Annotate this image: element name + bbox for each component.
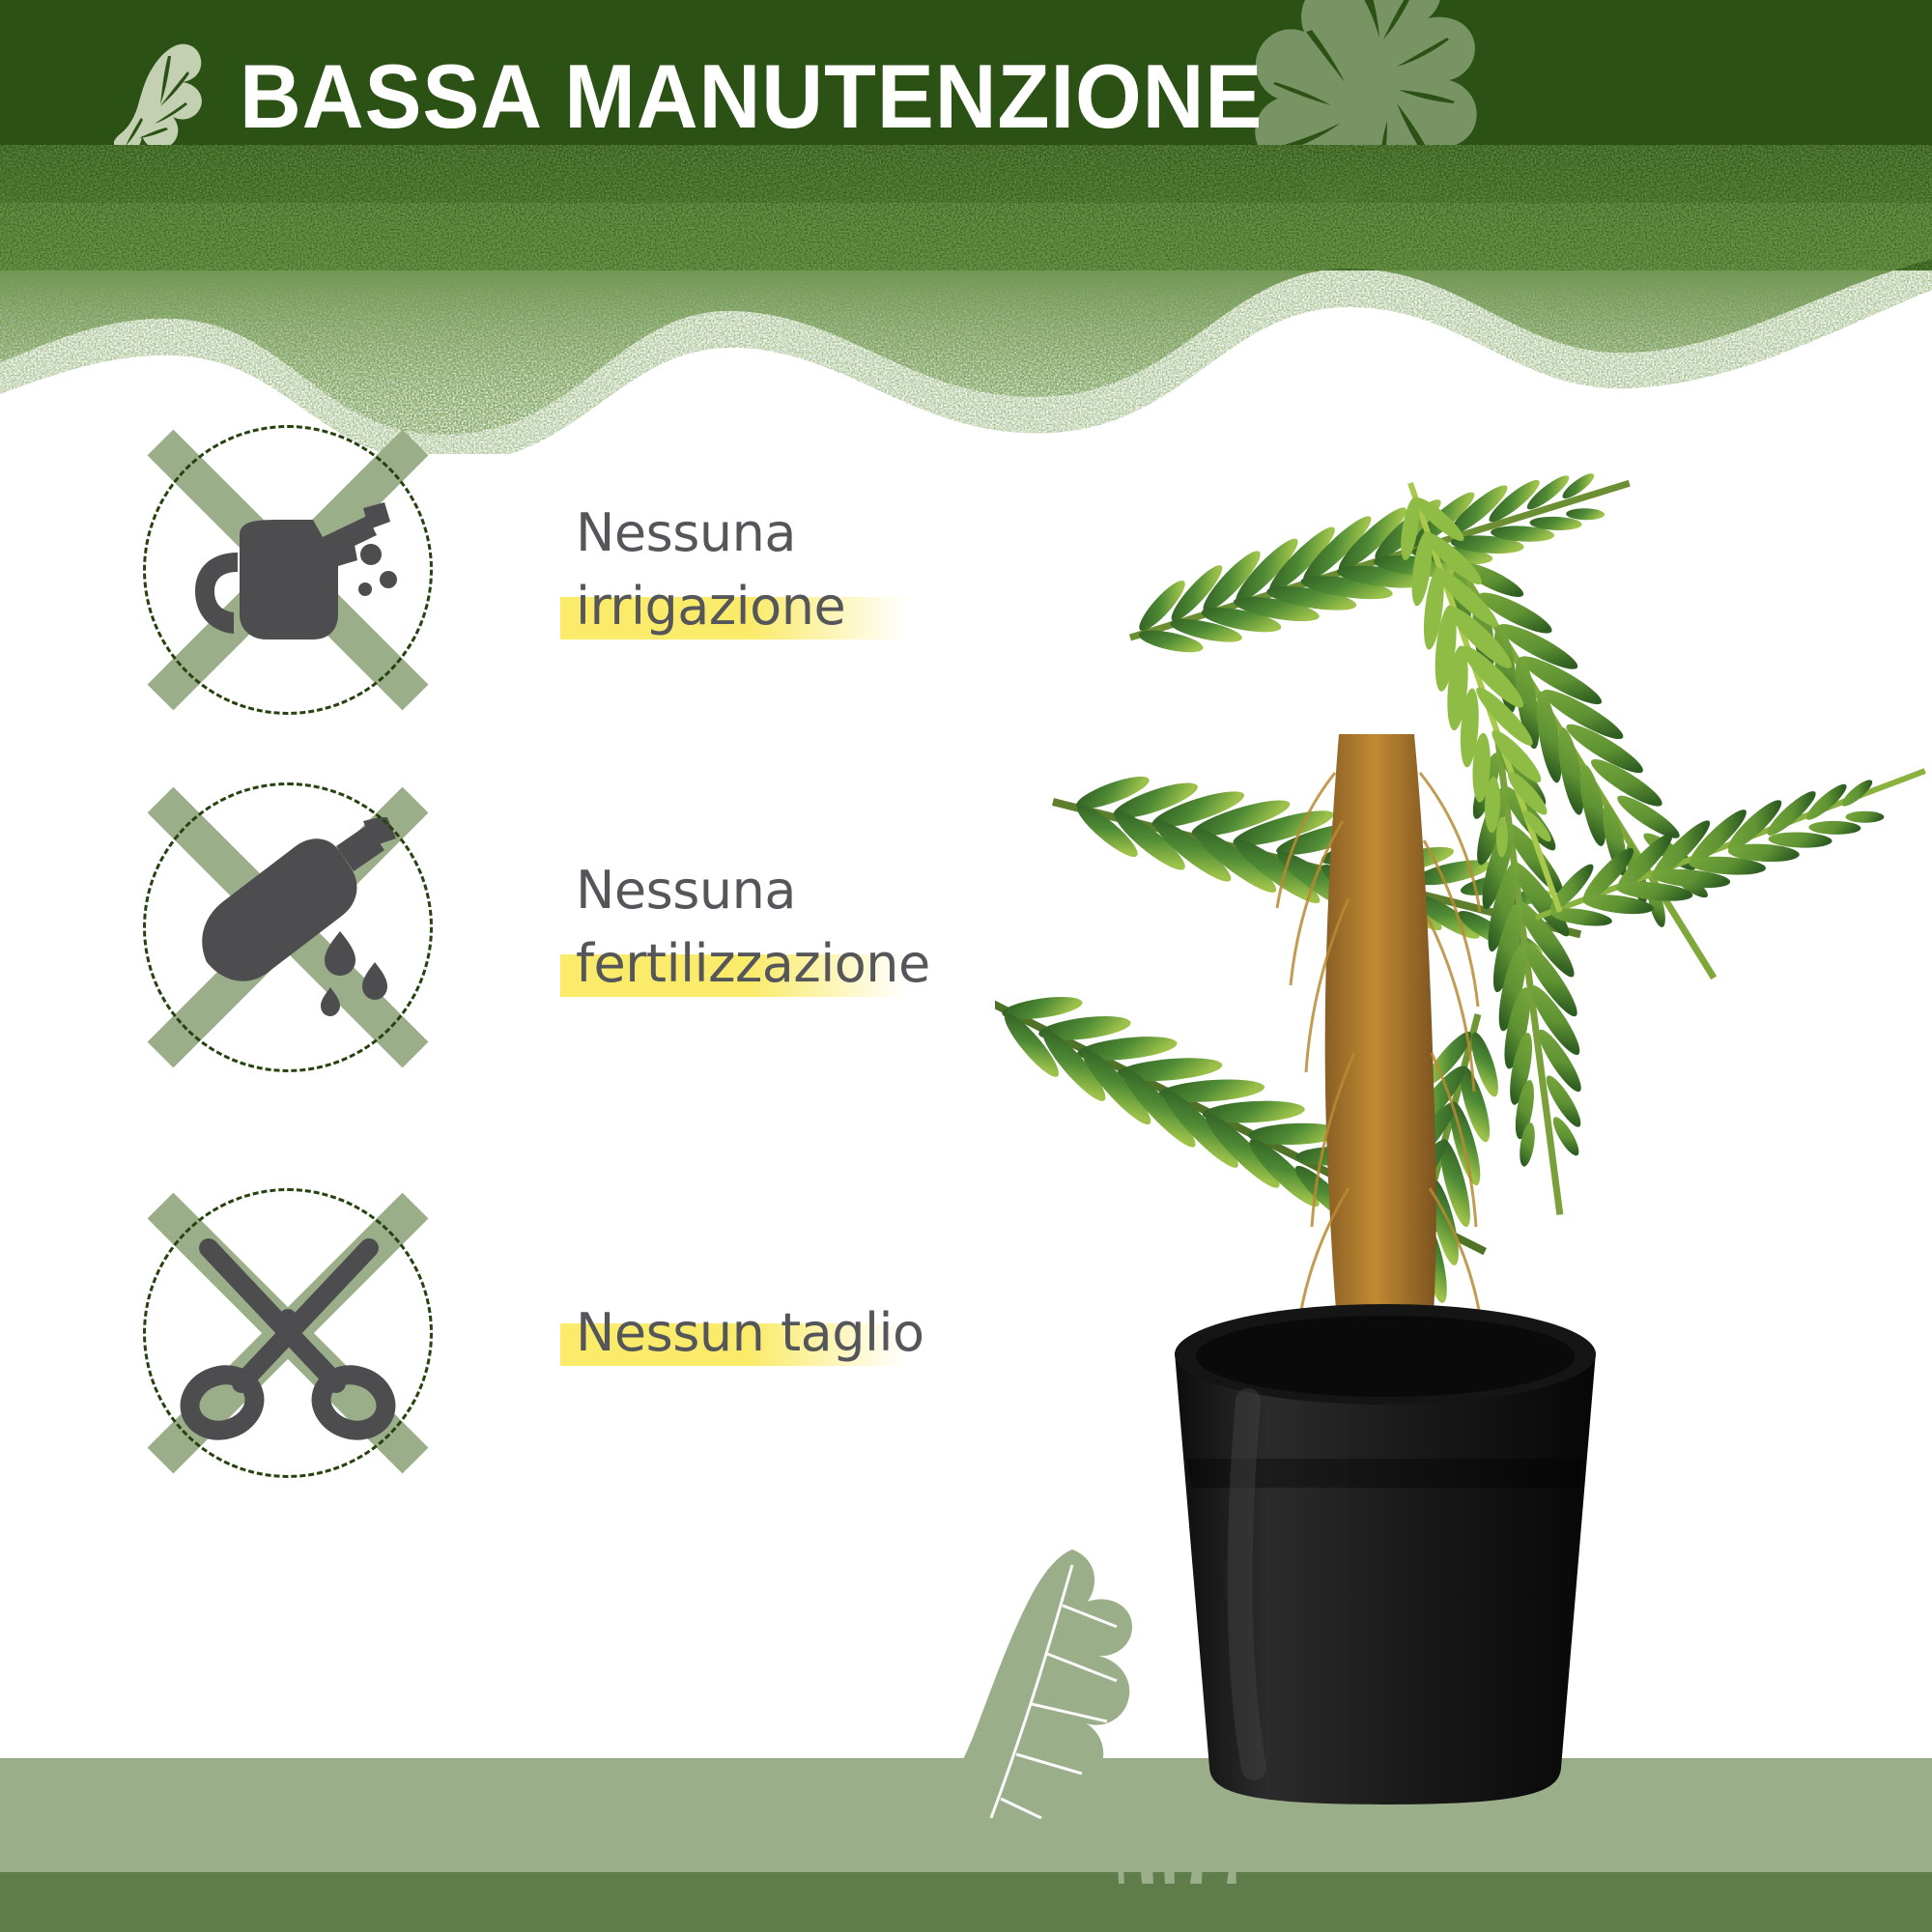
feature-label-text: Nessun taglio (576, 1302, 924, 1363)
dashed-circle-border (143, 782, 433, 1072)
dashed-circle-border (143, 1188, 433, 1478)
feature-icon-circle (143, 782, 433, 1072)
features-list: Nessuna irrigazione (0, 0, 966, 1932)
feature-icon-circle (143, 425, 433, 715)
feature-label-text: fertilizzazione (576, 933, 930, 994)
dashed-circle-border (143, 425, 433, 715)
feature-label-line: Nessuna (576, 497, 966, 570)
feature-label: Nessuna fertilizzazione (576, 782, 966, 1072)
feature-label: Nessuna irrigazione (576, 425, 966, 715)
feature-label-text: Nessuna (576, 860, 796, 921)
feature-label-text: irrigazione (576, 576, 845, 637)
feature-row: Nessuna irrigazione (0, 425, 966, 715)
feature-label-line: Nessun taglio (576, 1296, 966, 1370)
artificial-fern-plant-image (995, 319, 1932, 1903)
feature-label-text: Nessuna (576, 502, 796, 563)
feature-row: Nessun taglio (0, 1188, 966, 1478)
feature-row: Nessuna fertilizzazione (0, 782, 966, 1072)
feature-label-line: Nessuna (576, 854, 966, 927)
feature-label: Nessun taglio (576, 1188, 966, 1478)
feature-label-line: fertilizzazione (576, 927, 966, 1001)
feature-icon-circle (143, 1188, 433, 1478)
feature-label-line: irrigazione (576, 570, 966, 643)
